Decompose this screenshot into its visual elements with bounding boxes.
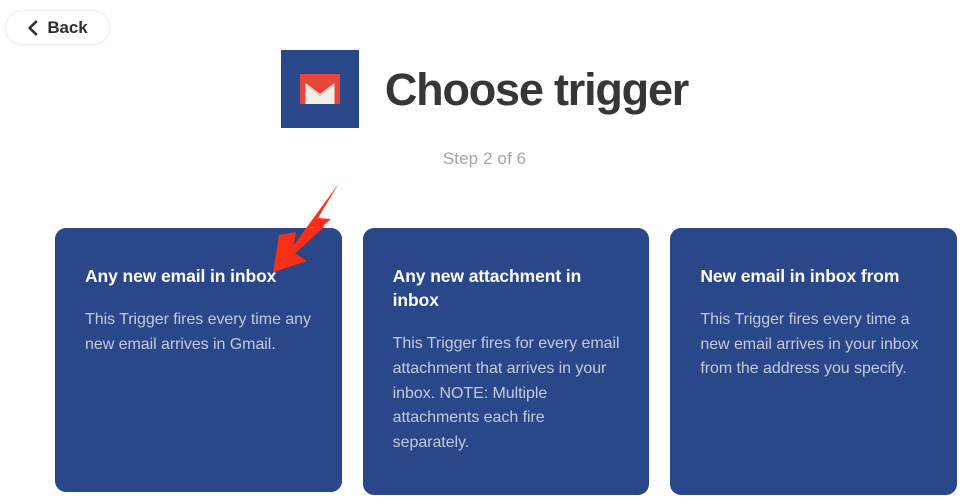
- back-button-label: Back: [47, 19, 87, 36]
- chevron-left-icon: [27, 20, 38, 36]
- back-button[interactable]: Back: [5, 10, 110, 45]
- trigger-card-description: This Trigger fires every time a new emai…: [700, 308, 929, 382]
- trigger-card-new-email-in-inbox-from[interactable]: New email in inbox from This Trigger fir…: [670, 228, 957, 495]
- step-indicator: Step 2 of 6: [443, 150, 526, 167]
- page-title: Choose trigger: [385, 67, 688, 112]
- trigger-card-title: Any new email in inbox: [85, 264, 314, 288]
- trigger-card-title: New email in inbox from: [700, 264, 929, 288]
- trigger-card-list: Any new email in inbox This Trigger fire…: [55, 228, 957, 495]
- gmail-icon: [281, 50, 359, 128]
- trigger-card-any-new-email-in-inbox[interactable]: Any new email in inbox This Trigger fire…: [55, 228, 342, 492]
- page-header: Choose trigger Step 2 of 6: [0, 50, 969, 167]
- trigger-card-title: Any new attachment in inbox: [393, 264, 622, 312]
- trigger-card-description: This Trigger fires every time any new em…: [85, 308, 314, 357]
- trigger-card-description: This Trigger fires for every email attac…: [393, 332, 622, 455]
- header-title-row: Choose trigger: [281, 50, 688, 128]
- trigger-card-any-new-attachment-in-inbox[interactable]: Any new attachment in inbox This Trigger…: [363, 228, 650, 495]
